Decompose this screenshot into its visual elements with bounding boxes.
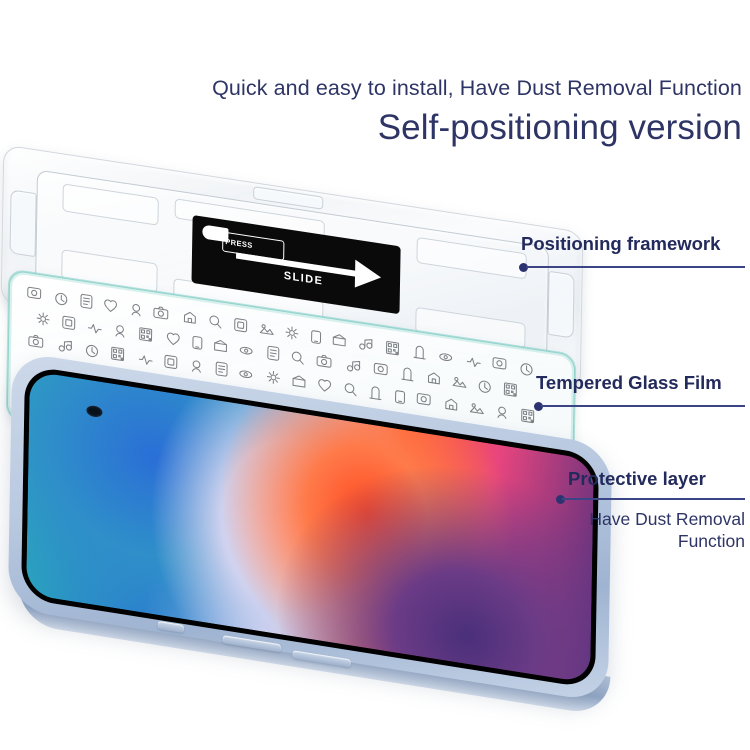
callout-title: Positioning framework (521, 233, 720, 255)
slide-label: SLIDE (284, 270, 324, 288)
tray-clip-left (10, 189, 37, 257)
callout-title: Protective layer (568, 468, 706, 490)
callout-subtext-line1: Have Dust Removal (455, 508, 745, 530)
callout-tempered-glass-film: Tempered Glass Film (536, 372, 722, 394)
headline-subtitle: Quick and easy to install, Have Dust Rem… (0, 76, 742, 101)
callout-subtext-protective-layer: Have Dust Removal Function (455, 508, 745, 552)
callout-positioning-framework: Positioning framework (521, 233, 720, 255)
product-marketing-image: Quick and easy to install, Have Dust Rem… (0, 0, 750, 750)
tray-clip-right (548, 271, 575, 339)
callout-line-tempered-glass-film (541, 405, 745, 407)
page-title: Self-positioning version (0, 108, 742, 148)
callout-protective-layer: Protective layer (568, 468, 706, 490)
callout-line-protective-layer (562, 498, 745, 500)
callout-title: Tempered Glass Film (536, 372, 722, 394)
slide-arrow-head-icon (355, 260, 381, 292)
callout-line-positioning-framework (526, 266, 745, 268)
callout-subtext-line2: Function (455, 530, 745, 552)
